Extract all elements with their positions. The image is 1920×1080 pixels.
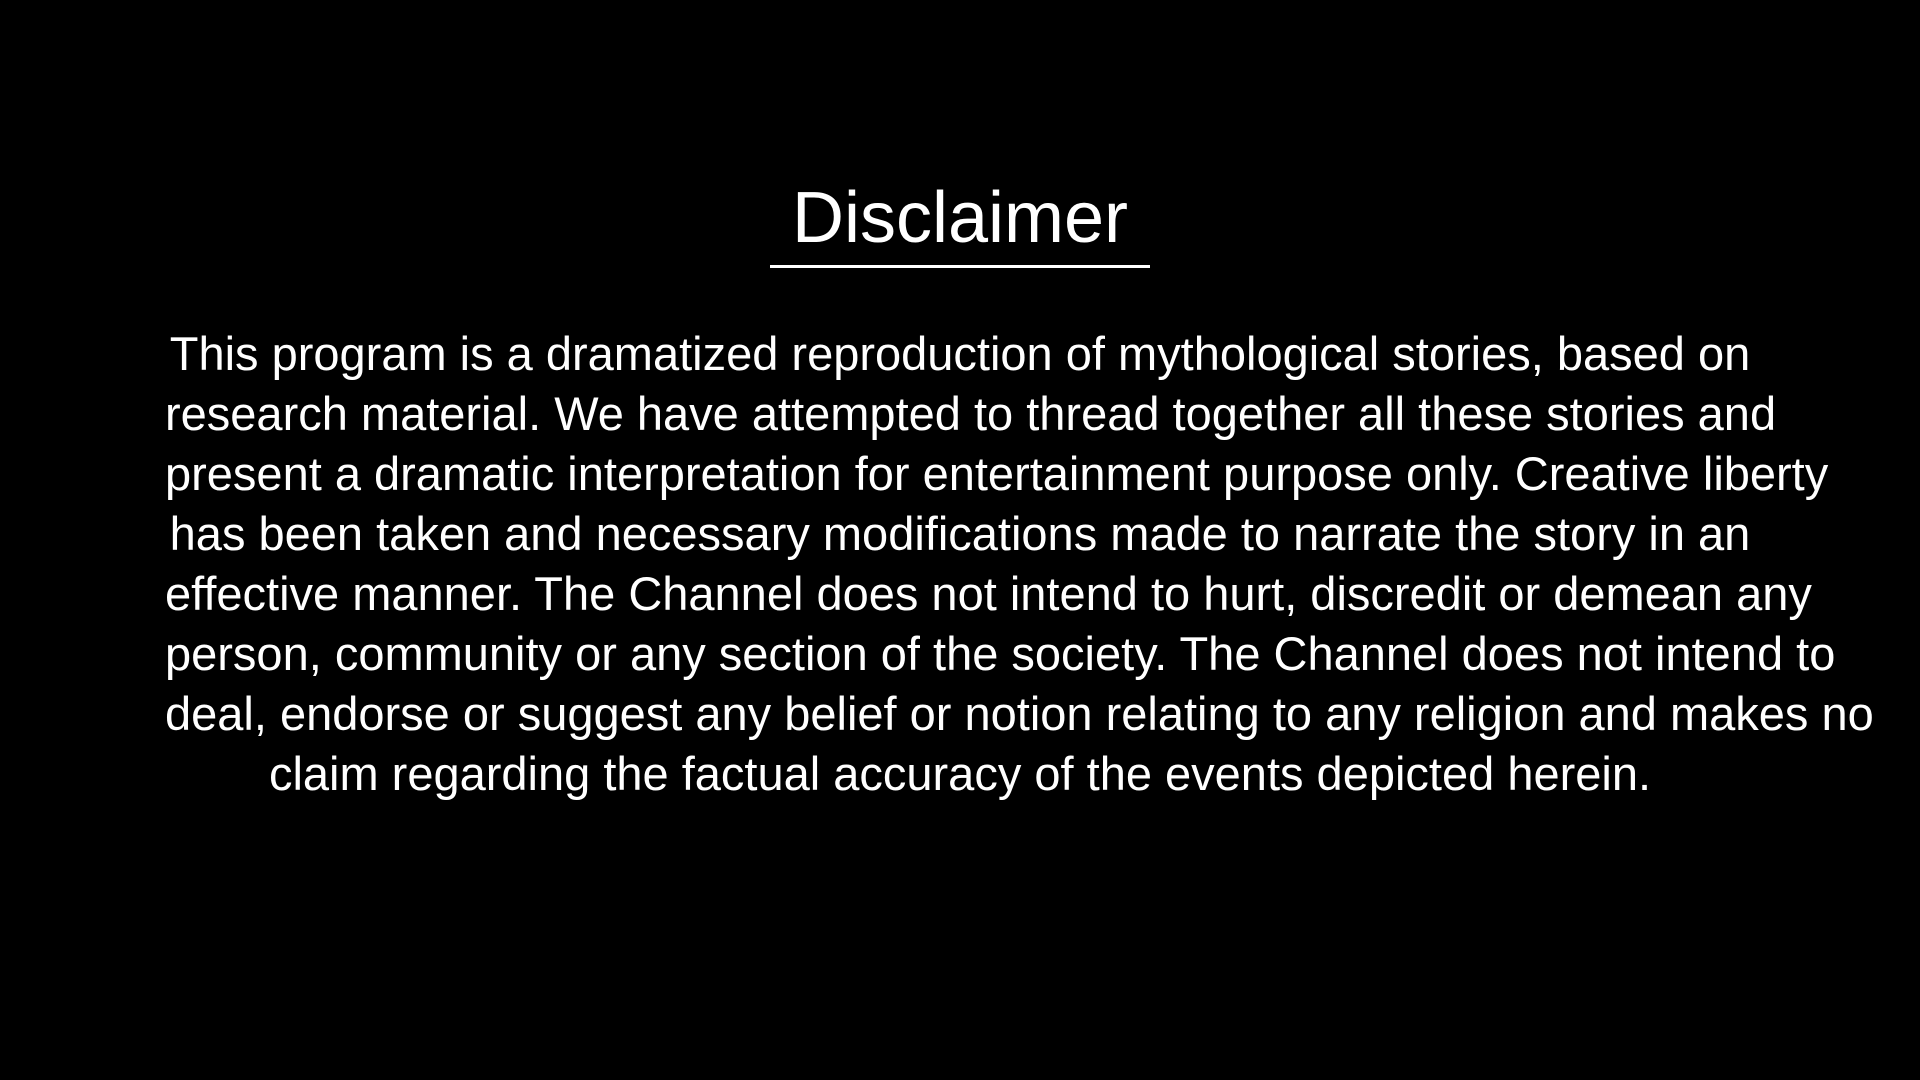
- disclaimer-body-line: deal, endorse or suggest any belief or n…: [165, 684, 1755, 744]
- disclaimer-body-line: claim regarding the factual accuracy of …: [165, 744, 1755, 804]
- disclaimer-body-line: present a dramatic interpretation for en…: [165, 444, 1755, 504]
- disclaimer-body-line: person, community or any section of the …: [165, 624, 1755, 684]
- disclaimer-title-block: Disclaimer: [0, 182, 1920, 254]
- disclaimer-body-line: This program is a dramatized reproductio…: [165, 324, 1755, 384]
- disclaimer-body-line: effective manner. The Channel does not i…: [165, 564, 1755, 624]
- title-underline-divider: [770, 265, 1150, 268]
- disclaimer-card: Disclaimer This program is a dramatized …: [0, 0, 1920, 1080]
- video-disclaimer-screen: Disclaimer This program is a dramatized …: [0, 0, 1920, 1080]
- page-title: Disclaimer: [0, 182, 1920, 254]
- disclaimer-body-line: has been taken and necessary modificatio…: [165, 504, 1755, 564]
- disclaimer-body: This program is a dramatized reproductio…: [165, 324, 1755, 804]
- disclaimer-body-line: research material. We have attempted to …: [165, 384, 1755, 444]
